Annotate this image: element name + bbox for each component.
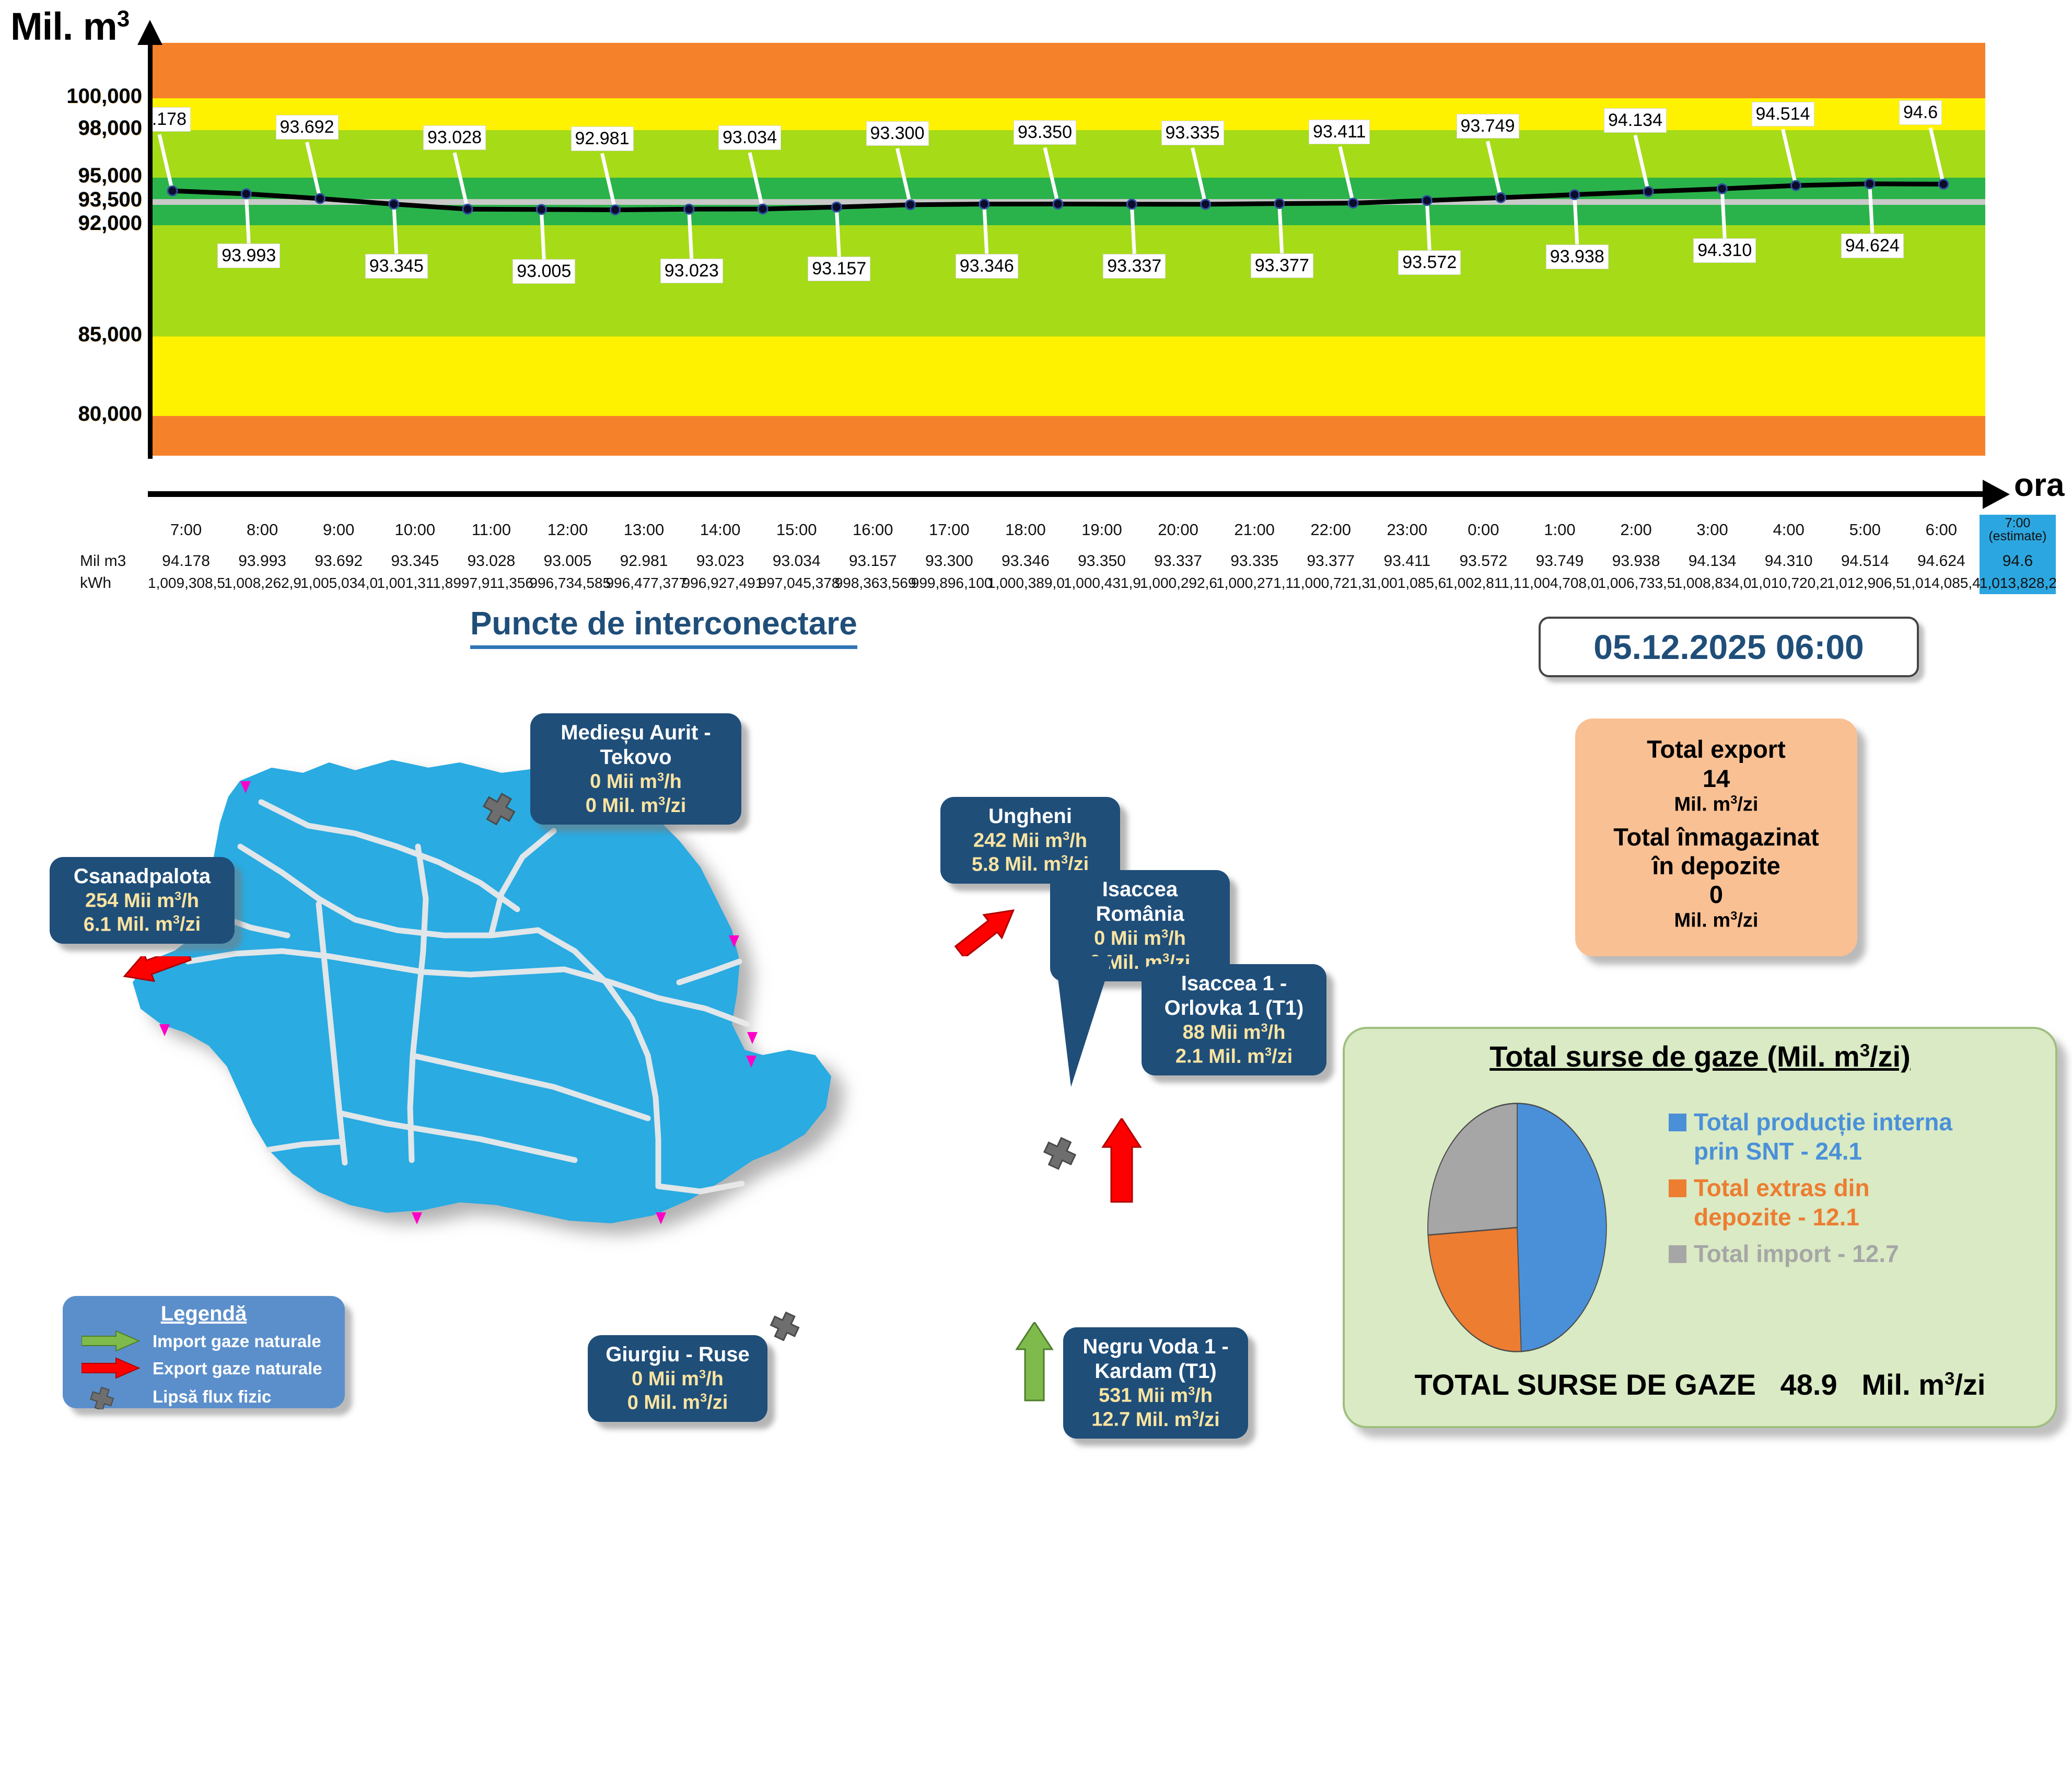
y-tick-2: 95,000 xyxy=(78,164,142,188)
callout-hourly-flow: 242 Mii m3/h xyxy=(952,829,1109,852)
table-cell-hour: 10:00 xyxy=(377,515,453,550)
table-cell: 1,001,311,8 xyxy=(377,572,453,594)
table-row: kWh1,009,308,51,008,262,91,005,034,01,00… xyxy=(76,572,2056,594)
table-cell: 93.749 xyxy=(1521,550,1598,572)
pie-total-line: TOTAL SURSE DE GAZE 48.9 Mil. m3/zi xyxy=(1345,1368,2055,1402)
data-point-label-6: 92.981 xyxy=(571,126,634,151)
table-cell: 94.514 xyxy=(1827,550,1903,572)
table-cell: 93.346 xyxy=(987,550,1064,572)
table-cell: 1,008,262,9 xyxy=(224,572,300,594)
total-storage-value: 0 xyxy=(1709,880,1723,909)
table-cell: 1,000,721,3 xyxy=(1293,572,1369,594)
table-cell-hour: 1:00 xyxy=(1521,515,1598,550)
table-cell: 94.310 xyxy=(1751,550,1827,572)
total-export-unit: Mil. m3/zi xyxy=(1674,793,1759,816)
table-cell: 1,014,085,4 xyxy=(1903,572,1980,594)
table-cell-hour: 4:00 xyxy=(1751,515,1827,550)
table-cell: 93.157 xyxy=(835,550,911,572)
data-point-label-14: 93.335 xyxy=(1161,121,1224,145)
y-axis-title: Mil. m3 xyxy=(10,4,129,49)
table-cell-hour: 7:00(estimate) xyxy=(1980,515,2056,550)
table-cell: 1,002,811,1 xyxy=(1445,572,1521,594)
table-cell: 1,005,034,0 xyxy=(300,572,377,594)
import-arrow-icon xyxy=(82,1330,143,1353)
data-point-label-15: 93.377 xyxy=(1251,253,1313,278)
table-cell: 1,006,733,5 xyxy=(1598,572,1674,594)
data-point-label-4: 93.028 xyxy=(423,125,486,150)
table-cell-hour: 16:00 xyxy=(835,515,911,550)
data-point-label-17: 93.572 xyxy=(1398,250,1461,275)
table-cell-hour: 6:00 xyxy=(1903,515,1980,550)
y-axis-ticks: 100,00098,00095,00093,50092,00085,00080,… xyxy=(0,43,142,461)
table-cell-hour: 2:00 xyxy=(1598,515,1674,550)
y-axis-arrow-icon xyxy=(137,20,162,45)
y-tick-0: 100,000 xyxy=(66,85,142,108)
table-cell: 1,013,828,2 xyxy=(1980,572,2056,594)
pie-total-label: TOTAL SURSE DE GAZE xyxy=(1415,1368,1756,1401)
callout-daily-flow: 2.1 Mil. m3/zi xyxy=(1153,1045,1315,1068)
callout-daily-flow: 0 Mil. m3/zi xyxy=(542,794,730,817)
data-point-label-21: 94.310 xyxy=(1693,238,1756,263)
table-cell-hour: 23:00 xyxy=(1369,515,1445,550)
callout-title-line1: Isaccea 1 - xyxy=(1153,971,1315,996)
table-cell: 1,001,085,6 xyxy=(1369,572,1445,594)
y-axis-line xyxy=(148,41,153,459)
no-flow-cross-icon-mediesu xyxy=(473,773,546,836)
data-point-label-7: 93.023 xyxy=(660,259,723,283)
table-cell-hour: 13:00 xyxy=(606,515,682,550)
legend-item-import: Import gaze naturale xyxy=(63,1330,345,1353)
table-cell: 1,000,431,9 xyxy=(1064,572,1140,594)
export-arrow-icon-ungheni xyxy=(946,878,1045,956)
table-cell: 94.6 xyxy=(1980,550,2056,572)
y-tick-1: 98,000 xyxy=(78,117,142,140)
data-point-label-24: 94.6 xyxy=(1899,100,1942,125)
pie-legend-swatch xyxy=(1669,1179,1686,1197)
pie-legend-swatch xyxy=(1669,1245,1686,1263)
no-flow-cross-icon xyxy=(82,1384,143,1409)
data-point-label-11: 93.346 xyxy=(956,254,1018,279)
legend-item-export: Export gaze naturale xyxy=(63,1357,345,1380)
table-cell-hour: 20:00 xyxy=(1140,515,1216,550)
table-cell: 93.345 xyxy=(377,550,453,572)
callout-title-line1: Medieșu Aurit - xyxy=(542,721,730,745)
callout-csanadpalota[interactable]: Csanadpalota 254 Mii m3/h 6.1 Mil. m3/zi xyxy=(50,857,235,944)
callout-title-line1: Giurgiu - Ruse xyxy=(599,1342,756,1367)
table-cell: 93.034 xyxy=(759,550,835,572)
table-cell: 997,045,378 xyxy=(759,572,835,594)
data-point-label-9: 93.157 xyxy=(808,257,870,281)
table-cell-hour: 8:00 xyxy=(224,515,300,550)
data-point-label-13: 93.337 xyxy=(1103,254,1166,279)
legend-label-no-flow: Lipsă flux fizic xyxy=(153,1387,271,1407)
y-tick-4: 92,000 xyxy=(78,212,142,235)
table-cell: 92.981 xyxy=(606,550,682,572)
table-cell-hour: 22:00 xyxy=(1293,515,1369,550)
total-storage-label-line1: Total înmagazinat xyxy=(1613,823,1819,852)
table-cell: 93.572 xyxy=(1445,550,1521,572)
data-point-label-3: 93.345 xyxy=(365,254,428,279)
table-cell: 93.023 xyxy=(682,550,759,572)
data-point-label-1: 93.993 xyxy=(217,244,280,268)
data-point-label-23: 94.624 xyxy=(1841,234,1904,258)
pie-legend-item-2: Total import - 12.7 xyxy=(1669,1239,2045,1268)
callout-daily-flow: 6.1 Mil. m3/zi xyxy=(61,913,223,936)
legend-label-export: Export gaze naturale xyxy=(153,1359,322,1379)
table-cell: 1,000,292,6 xyxy=(1140,572,1216,594)
table-cell: 1,004,708,0 xyxy=(1521,572,1598,594)
table-cell: 94.178 xyxy=(148,550,224,572)
callout-title-line1: Isaccea România xyxy=(1062,877,1218,926)
legend-label-import: Import gaze naturale xyxy=(153,1331,321,1351)
callout-title-line2: Tekovo xyxy=(542,745,730,770)
table-cell: 93.005 xyxy=(529,550,606,572)
table-cell: 1,000,271,1 xyxy=(1216,572,1293,594)
table-cell: 93.993 xyxy=(224,550,300,572)
table-cell: 93.300 xyxy=(911,550,987,572)
callout-hourly-flow: 0 Mii m3/h xyxy=(599,1367,756,1391)
table-cell: 93.337 xyxy=(1140,550,1216,572)
legend-item-no-flow: Lipsă flux fizic xyxy=(63,1384,345,1409)
callout-daily-flow: 12.7 Mil. m3/zi xyxy=(1075,1408,1237,1431)
table-cell-hour: 14:00 xyxy=(682,515,759,550)
pie-chart-title: Total surse de gaze (Mil. m3/zi) xyxy=(1345,1029,2055,1073)
import-arrow-icon-negru-voda xyxy=(1014,1322,1071,1406)
no-flow-cross-icon-giurgiu xyxy=(765,1301,833,1364)
table-cell: 93.335 xyxy=(1216,550,1293,572)
table-cell: 93.350 xyxy=(1064,550,1140,572)
table-cell-hour: 9:00 xyxy=(300,515,377,550)
date-time-badge: 05.12.2025 06:00 xyxy=(1539,617,1919,677)
x-axis-label: ora xyxy=(2014,467,2064,504)
pie-legend: Total producție internaprin SNT - 24.1To… xyxy=(1669,1107,2045,1276)
y-tick-6: 80,000 xyxy=(78,402,142,426)
table-cell: 997,911,356 xyxy=(453,572,529,594)
row-header xyxy=(76,515,148,550)
callout-isaccea-1-orlovka-1-t1[interactable]: Isaccea 1 - Orlovka 1 (T1) 88 Mii m3/h 2… xyxy=(1142,964,1326,1075)
y-tick-5: 85,000 xyxy=(78,323,142,346)
hourly-data-table: 7:008:009:0010:0011:0012:0013:0014:0015:… xyxy=(0,515,2072,583)
table-cell-hour: 19:00 xyxy=(1064,515,1140,550)
legend-title: Legendă xyxy=(63,1296,345,1326)
table-cell-hour: 0:00 xyxy=(1445,515,1521,550)
table-cell: 93.028 xyxy=(453,550,529,572)
table-cell: 996,734,585 xyxy=(529,572,606,594)
callout-hourly-flow: 254 Mii m3/h xyxy=(61,889,223,912)
table-cell-hour: 17:00 xyxy=(911,515,987,550)
gas-sources-pie-chart xyxy=(1387,1097,1648,1358)
x-axis-arrow-icon xyxy=(1983,480,2010,509)
table-cell: 93.377 xyxy=(1293,550,1369,572)
gas-sources-pie-panel: Total surse de gaze (Mil. m3/zi) Total p… xyxy=(1343,1027,2057,1428)
table-cell: 996,477,377 xyxy=(606,572,682,594)
export-arrow-icon xyxy=(82,1357,143,1380)
table-row-hours: 7:008:009:0010:0011:0012:0013:0014:0015:… xyxy=(76,515,2056,550)
pie-total-value: 48.9 xyxy=(1780,1368,1837,1401)
table-cell-hour: 21:00 xyxy=(1216,515,1293,550)
map-legend: Legendă Import gaze naturale Export gaze… xyxy=(63,1296,345,1408)
table-cell: 1,009,308,5 xyxy=(148,572,224,594)
data-point-label-0: 94.178 xyxy=(152,107,191,132)
total-export-value: 14 xyxy=(1703,764,1730,793)
table-cell: 93.938 xyxy=(1598,550,1674,572)
table-cell: 1,012,906,5 xyxy=(1827,572,1903,594)
callout-negru-voda-1-kardam-t1[interactable]: Negru Voda 1 - Kardam (T1) 531 Mii m3/h … xyxy=(1063,1327,1248,1439)
total-storage-label-line2: în depozite xyxy=(1652,852,1780,881)
totals-panel: Total export 14 Mil. m3/zi Total înmagaz… xyxy=(1575,719,1857,956)
callout-title-line1: Csanadpalota xyxy=(61,864,223,889)
table-cell-hour: 18:00 xyxy=(987,515,1064,550)
pie-legend-swatch xyxy=(1669,1114,1686,1131)
table-cell: 1,000,389,0 xyxy=(987,572,1064,594)
data-point-label-5: 93.005 xyxy=(513,259,575,284)
callout-title-line1: Negru Voda 1 - xyxy=(1075,1335,1237,1359)
chart-plot-area: 94.17893.99393.69293.34593.02893.00592.9… xyxy=(152,43,1985,456)
callout-hourly-flow: 88 Mii m3/h xyxy=(1153,1021,1315,1044)
callout-hourly-flow: 0 Mii m3/h xyxy=(542,770,730,793)
data-point-label-10: 93.300 xyxy=(866,121,929,146)
data-point-label-12: 93.350 xyxy=(1014,120,1076,145)
callout-title-line2: Orlovka 1 (T1) xyxy=(1153,996,1315,1021)
table-cell-hour: 7:00 xyxy=(148,515,224,550)
pie-legend-label: Total import - 12.7 xyxy=(1694,1239,1899,1268)
total-export-label: Total export xyxy=(1647,735,1785,764)
export-arrow-icon-csanadpalota xyxy=(110,956,214,1024)
table-cell-hour: 5:00 xyxy=(1827,515,1903,550)
no-flow-cross-icon-isaccea xyxy=(1037,1124,1110,1191)
row-header: kWh xyxy=(76,572,148,594)
data-point-label-16: 93.411 xyxy=(1309,120,1370,144)
table-cell: 1,010,720,2 xyxy=(1751,572,1827,594)
data-point-label-20: 94.134 xyxy=(1604,108,1667,133)
callout-hourly-flow: 0 Mii m3/h xyxy=(1062,926,1218,950)
table-cell: 93.411 xyxy=(1369,550,1445,572)
callout-mediesu-aurit-tekovo[interactable]: Medieșu Aurit - Tekovo 0 Mii m3/h 0 Mil.… xyxy=(530,713,741,825)
table-cell-hour: 12:00 xyxy=(529,515,606,550)
data-point-label-18: 93.749 xyxy=(1457,114,1519,138)
date-time-value: 05.12.2025 06:00 xyxy=(1593,627,1864,667)
y-tick-3: 93,500 xyxy=(78,188,142,212)
table-cell: 1,008,834,0 xyxy=(1674,572,1751,594)
table-cell-hour: 11:00 xyxy=(453,515,529,550)
table-cell: 93.692 xyxy=(300,550,377,572)
table-cell: 94.134 xyxy=(1674,550,1751,572)
table-row: Mil m394.17893.99393.69293.34593.02893.0… xyxy=(76,550,2056,572)
total-storage-unit: Mil. m3/zi xyxy=(1674,909,1759,932)
table-cell: 996,927,491 xyxy=(682,572,759,594)
data-point-label-8: 93.034 xyxy=(718,125,781,150)
callout-giurgiu-ruse[interactable]: Giurgiu - Ruse 0 Mii m3/h 0 Mil. m3/zi xyxy=(588,1335,767,1422)
pie-legend-label: Total extras dindepozite - 12.1 xyxy=(1694,1173,1870,1232)
table-cell: 998,363,569 xyxy=(835,572,911,594)
x-axis-line xyxy=(148,491,1987,497)
export-arrow-icon-isaccea xyxy=(1100,1118,1162,1207)
pie-total-unit: Mil. m3/zi xyxy=(1861,1368,1985,1401)
table-cell-hour: 15:00 xyxy=(759,515,835,550)
data-point-label-19: 93.938 xyxy=(1546,245,1609,269)
pie-legend-label: Total producție internaprin SNT - 24.1 xyxy=(1694,1107,1952,1166)
hourly-gas-stock-chart: Mil. m3 94.17893.99393.69293.34593.02893… xyxy=(0,0,2072,590)
pie-legend-item-0: Total producție internaprin SNT - 24.1 xyxy=(1669,1107,2045,1166)
callout-title-line1: Ungheni xyxy=(952,804,1109,829)
row-header: Mil m3 xyxy=(76,550,148,572)
pie-legend-item-1: Total extras dindepozite - 12.1 xyxy=(1669,1173,2045,1232)
table-cell-hour: 3:00 xyxy=(1674,515,1751,550)
table-cell: 94.624 xyxy=(1903,550,1980,572)
map-title: Puncte de interconectare xyxy=(470,605,857,649)
data-point-label-22: 94.514 xyxy=(1752,102,1814,126)
data-point-label-2: 93.692 xyxy=(276,115,339,140)
callout-daily-flow: 0 Mil. m3/zi xyxy=(599,1391,756,1415)
table-cell: 999,896,100 xyxy=(911,572,987,594)
callout-title-line2: Kardam (T1) xyxy=(1075,1359,1237,1384)
callout-hourly-flow: 531 Mii m3/h xyxy=(1075,1384,1237,1407)
